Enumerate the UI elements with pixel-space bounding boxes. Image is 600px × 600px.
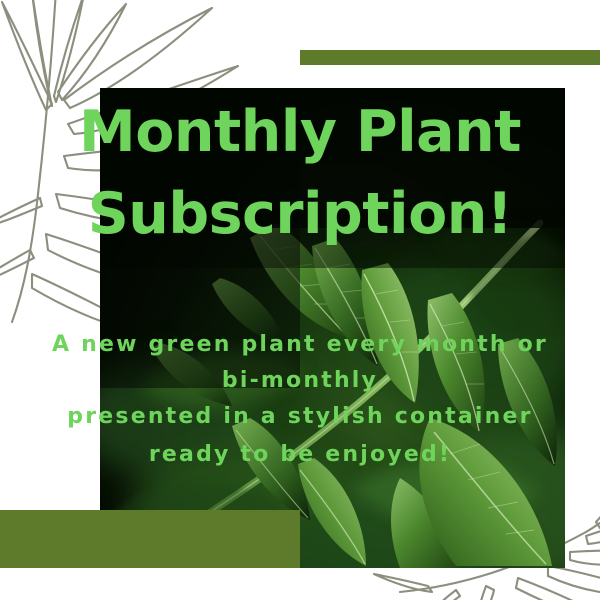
headline-line-2: Subscription!	[0, 186, 600, 243]
body-line-3: presented in a stylish container	[0, 406, 600, 428]
headline-line-1: Monthly Plant	[0, 104, 600, 161]
body-line-4: ready to be enjoyed!	[0, 444, 600, 466]
poster-canvas: Monthly Plant Subscription! A new green …	[0, 0, 600, 600]
body-line-1: A new green plant every month or	[0, 334, 600, 356]
poster-text-layer: Monthly Plant Subscription! A new green …	[0, 0, 600, 600]
body-line-2: bi-monthly	[0, 370, 600, 392]
